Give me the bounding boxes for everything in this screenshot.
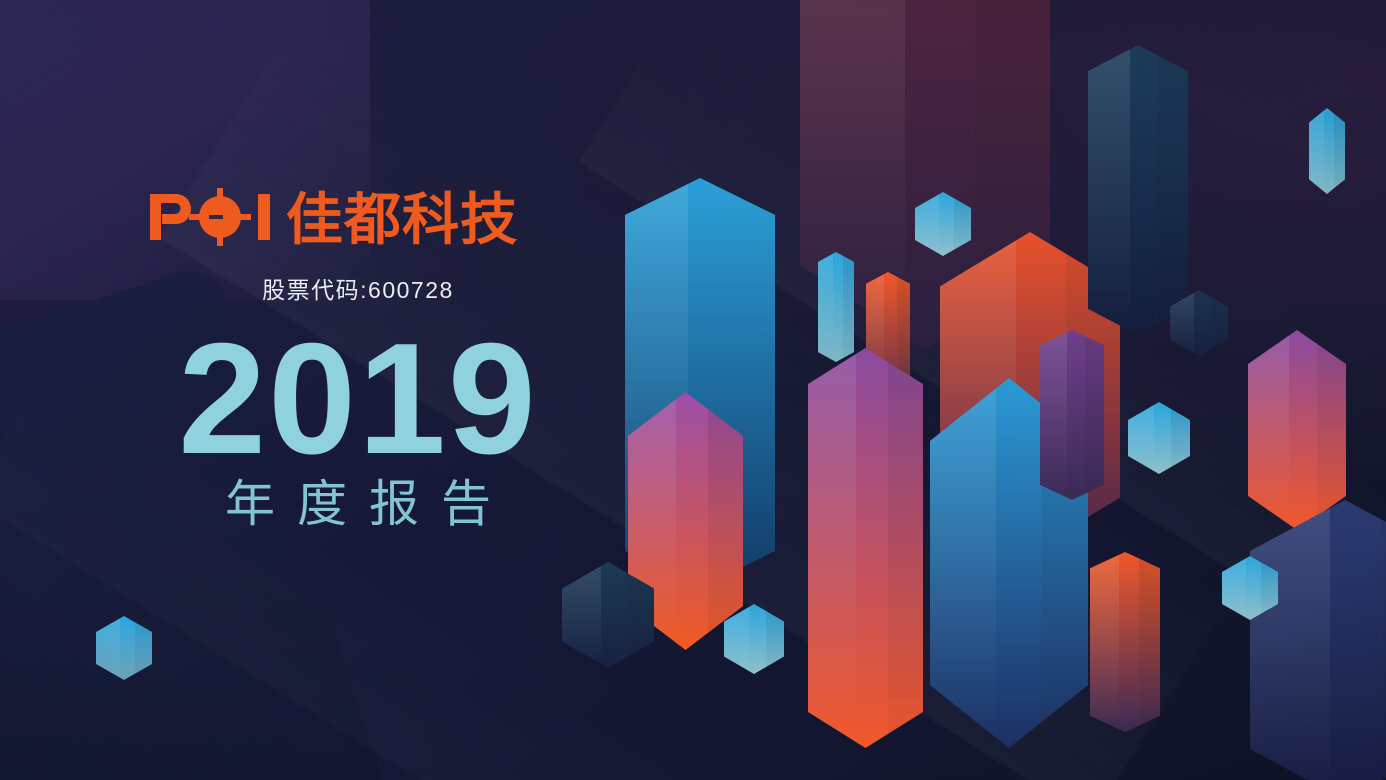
- annual-report-cover: 佳都科技 股票代码:600728 2019 年度报告: [0, 0, 1386, 780]
- cover-year: 2019: [148, 327, 568, 472]
- logo-row: 佳都科技: [148, 188, 568, 251]
- brand-block: 佳都科技 股票代码:600728 2019 年度报告: [148, 188, 568, 531]
- logo-chinese-text: 佳都科技: [286, 192, 519, 248]
- stock-code-label: 股票代码:600728: [148, 271, 568, 305]
- pci-target-logo-icon: [148, 188, 276, 251]
